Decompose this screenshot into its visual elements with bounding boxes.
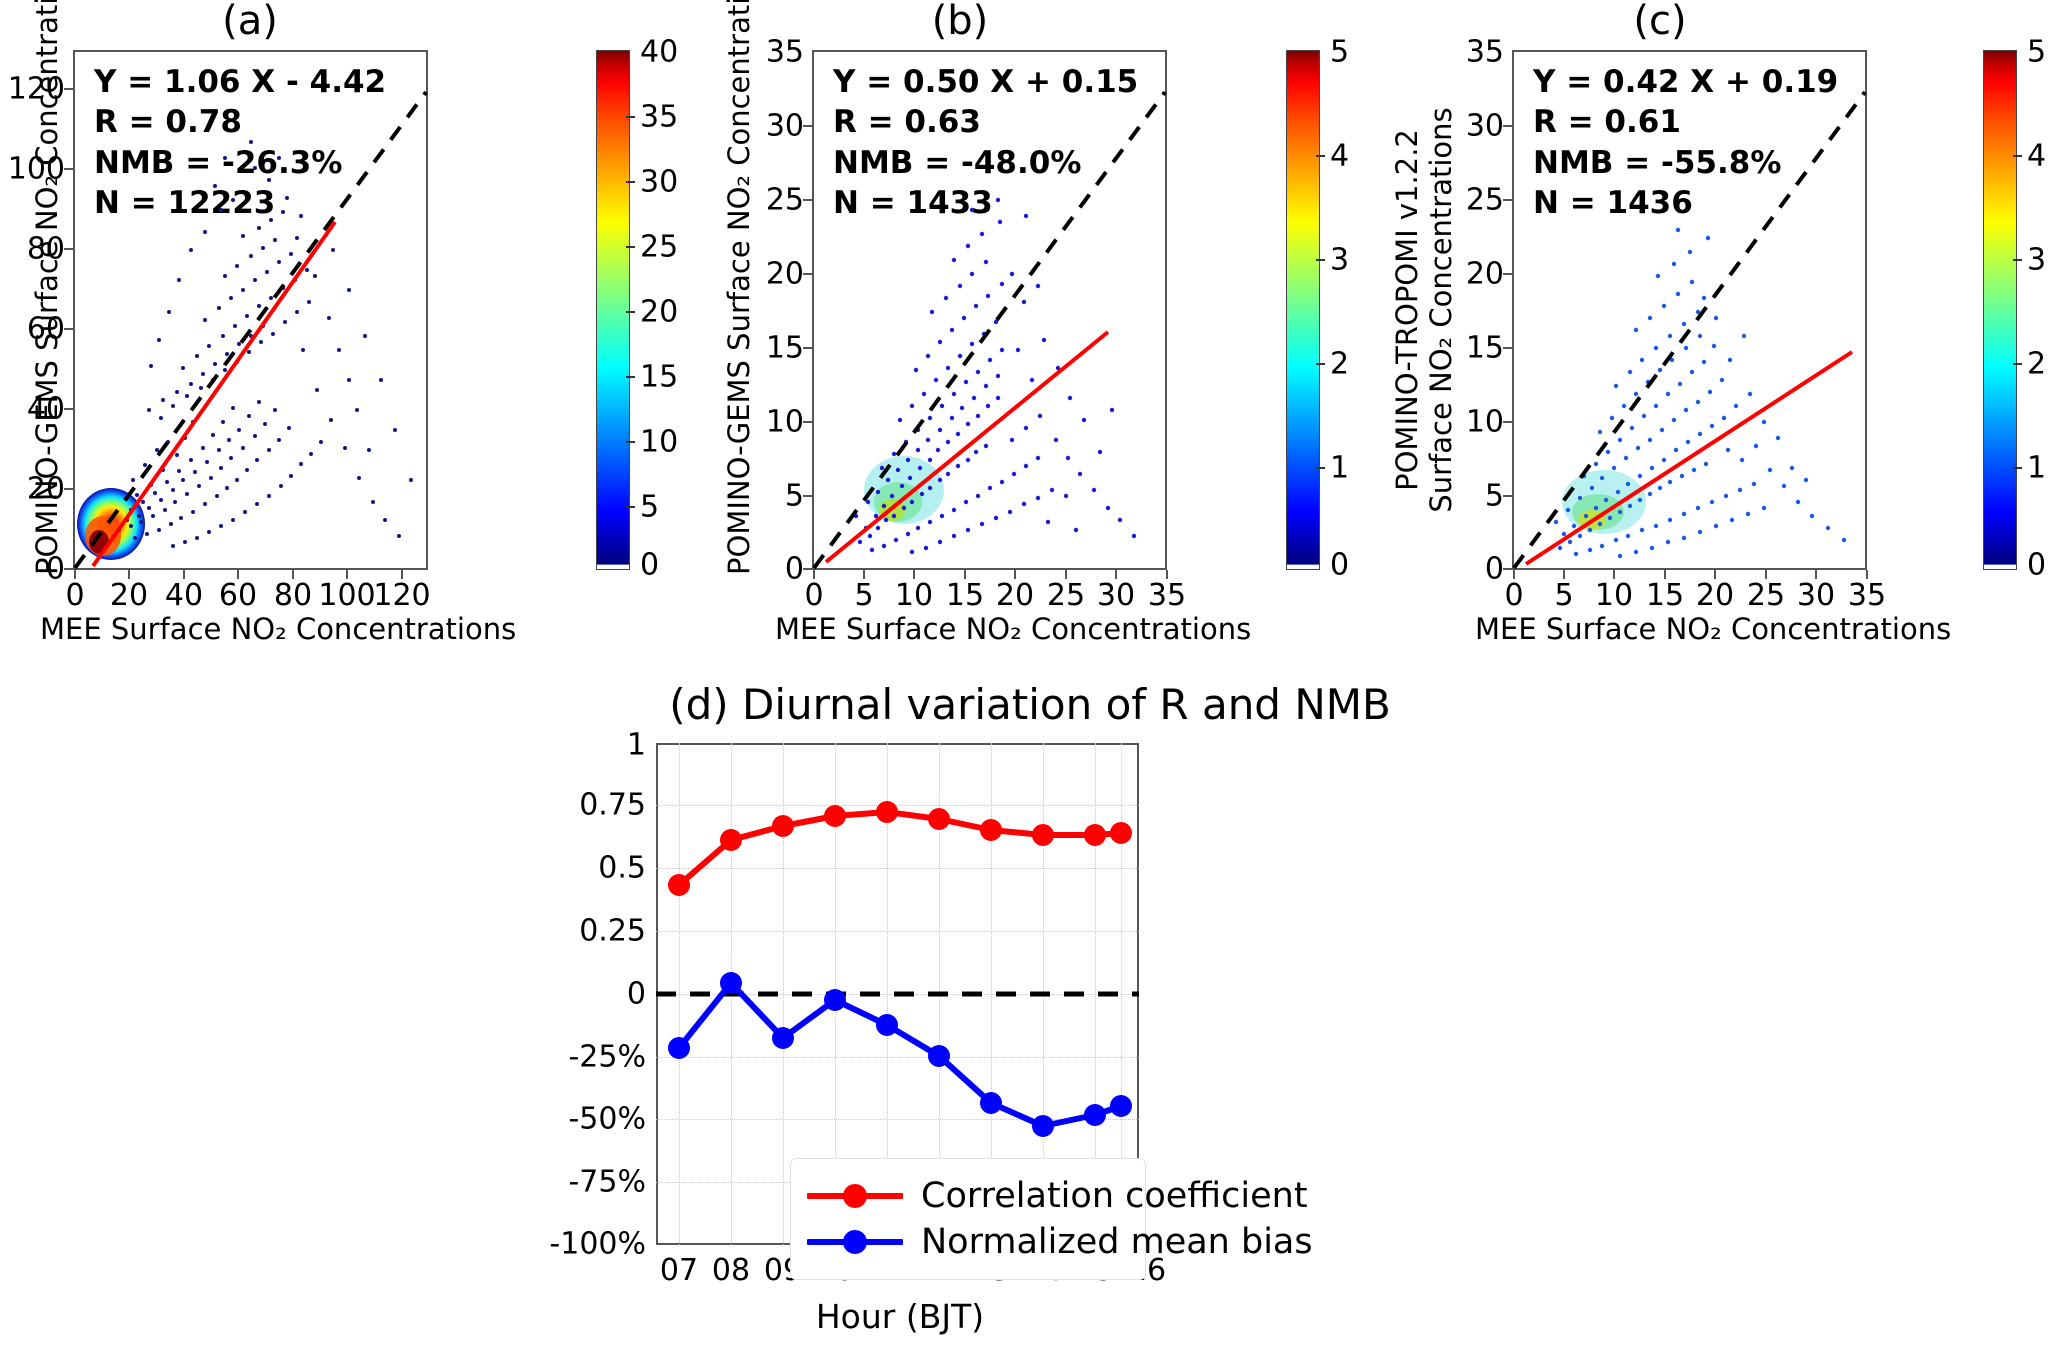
panel-a-ytick-80: 80 bbox=[0, 232, 65, 267]
panel-a-ytick-60: 60 bbox=[0, 312, 65, 347]
panel-a-cbar-tick-15: 15 bbox=[640, 360, 678, 395]
panel-a-cbar-tick-40: 40 bbox=[640, 35, 678, 70]
legend-item-correlation-coefficient[interactable]: Correlation coefficient bbox=[807, 1173, 1125, 1219]
panel-c-colorbar bbox=[1983, 50, 2017, 570]
panel-b-ytick-35: 35 bbox=[734, 35, 804, 70]
panel-b-plot-content bbox=[812, 50, 1167, 570]
panel-c-xtick-35: 35 bbox=[1832, 578, 1902, 613]
panel-b-ytick-10: 10 bbox=[734, 405, 804, 440]
panel-a-cbar-tick-10: 10 bbox=[640, 425, 678, 460]
panel-c-cbar-tick-0: 0 bbox=[2027, 548, 2046, 583]
data-point-correlation-07 bbox=[668, 874, 690, 896]
panel-a-xtick-120: 120 bbox=[367, 578, 437, 613]
panel-c-cbar-tick-4: 4 bbox=[2027, 139, 2046, 174]
panel-a-cbar-tick-35: 35 bbox=[640, 100, 678, 135]
legend-item-normalized-mean-bias[interactable]: Normalized mean bias bbox=[807, 1219, 1125, 1265]
data-point-nmb-13 bbox=[980, 1092, 1002, 1114]
panel-a-plot-content bbox=[73, 50, 428, 570]
panel-a-ytick-20: 20 bbox=[0, 472, 65, 507]
panel-b-xtick-35: 35 bbox=[1132, 578, 1202, 613]
panel-c-ytick-20: 20 bbox=[1434, 257, 1504, 292]
panel-c-cbar-tick-1: 1 bbox=[2027, 451, 2046, 486]
panel-c: (c) POMINO-TROPOMI v1.2.2 Surface NO₂ Co… bbox=[1380, 0, 2067, 640]
panel-a-x-axis-label: MEE Surface NO₂ Concentrations bbox=[40, 612, 470, 646]
panel-c-ytick-10: 10 bbox=[1434, 405, 1504, 440]
panel-d-x-axis-label: Hour (BJT) bbox=[700, 1297, 1100, 1336]
panel-b-x-axis-label: MEE Surface NO₂ Concentrations bbox=[775, 612, 1205, 646]
panel-d-legend: Correlation coefficient Normalized mean … bbox=[790, 1158, 1146, 1280]
panel-d-title: (d) Diurnal variation of R and NMB bbox=[520, 680, 1540, 729]
panel-b-ytick-5: 5 bbox=[734, 479, 804, 514]
data-point-correlation-15 bbox=[1084, 824, 1106, 846]
panel-d-ytick-50pct: -50% bbox=[476, 1102, 646, 1137]
data-point-correlation-10 bbox=[824, 805, 846, 827]
legend-label-normalized-mean-bias: Normalized mean bias bbox=[921, 1222, 1313, 1262]
series-normalized-mean-bias bbox=[679, 983, 1121, 1126]
panel-a-cbar-tick-30: 30 bbox=[640, 165, 678, 200]
panel-a-colorbar bbox=[596, 50, 630, 570]
panel-b-ytick-15: 15 bbox=[734, 331, 804, 366]
panel-d-ytick-075: 0.75 bbox=[476, 788, 646, 823]
panel-c-ytick-25: 25 bbox=[1434, 183, 1504, 218]
legend-marker-red-line-icon bbox=[807, 1193, 903, 1199]
panel-d-ytick-75pct: -75% bbox=[476, 1165, 646, 1200]
panel-d-ytick-100pct: -100% bbox=[460, 1227, 646, 1262]
panel-c-x-axis-label: MEE Surface NO₂ Concentrations bbox=[1475, 612, 1905, 646]
panel-c-ytick-5: 5 bbox=[1434, 479, 1504, 514]
panel-d-ytick-1: 1 bbox=[476, 728, 646, 763]
panel-c-cbar-tick-3: 3 bbox=[2027, 243, 2046, 278]
panel-a-cbar-tick-20: 20 bbox=[640, 295, 678, 330]
data-point-correlation-09 bbox=[772, 815, 794, 837]
panel-b-ytick-25: 25 bbox=[734, 183, 804, 218]
panel-b-cbar-tick-3: 3 bbox=[1330, 243, 1349, 278]
panel-d-ytick-25pct: -25% bbox=[476, 1040, 646, 1075]
panel-d-ytick-05: 0.5 bbox=[476, 851, 646, 886]
panel-a-ytick-120: 120 bbox=[0, 72, 65, 107]
panel-a-title: (a) bbox=[0, 0, 500, 44]
panel-a-cbar-tick-5: 5 bbox=[640, 490, 659, 525]
panel-c-ytick-30: 30 bbox=[1434, 109, 1504, 144]
panel-d-ytick-0: 0 bbox=[476, 977, 646, 1012]
data-point-nmb-16 bbox=[1110, 1095, 1132, 1117]
data-point-nmb-10 bbox=[824, 989, 846, 1011]
panel-a-ytick-40: 40 bbox=[0, 392, 65, 427]
data-point-correlation-11 bbox=[876, 801, 898, 823]
panel-c-cbar-tick-2: 2 bbox=[2027, 347, 2046, 382]
data-point-correlation-13 bbox=[980, 819, 1002, 841]
panel-b-cbar-tick-2: 2 bbox=[1330, 347, 1349, 382]
panel-a-ytick-100: 100 bbox=[0, 152, 65, 187]
panel-a-cbar-tick-25: 25 bbox=[640, 230, 678, 265]
panel-b-colorbar bbox=[1286, 50, 1320, 570]
panel-d-ytick-025: 0.25 bbox=[476, 914, 646, 949]
panel-b-cbar-tick-4: 4 bbox=[1330, 139, 1349, 174]
data-point-nmb-08 bbox=[720, 972, 742, 994]
legend-marker-blue-line-icon bbox=[807, 1239, 903, 1245]
data-point-nmb-12 bbox=[928, 1045, 950, 1067]
data-point-correlation-16 bbox=[1110, 822, 1132, 844]
panel-b: (b) POMINO-GEMS Surface NO₂ Concentratio… bbox=[690, 0, 1350, 640]
panel-c-y-axis-label-line1: POMINO-TROPOMI v1.2.2 bbox=[1390, 45, 1424, 575]
figure-root: (a) POMINO-GEMS Surface NO₂ Concentratio… bbox=[0, 0, 2067, 1353]
data-point-correlation-12 bbox=[928, 808, 950, 830]
panel-b-ytick-20: 20 bbox=[734, 257, 804, 292]
series-correlation-coefficient bbox=[679, 812, 1121, 885]
data-point-nmb-09 bbox=[772, 1027, 794, 1049]
panel-b-cbar-tick-0: 0 bbox=[1330, 548, 1349, 583]
panel-b-cbar-tick-5: 5 bbox=[1330, 35, 1349, 70]
panel-c-ytick-35: 35 bbox=[1434, 35, 1504, 70]
data-point-correlation-08 bbox=[720, 829, 742, 851]
panel-a: (a) POMINO-GEMS Surface NO₂ Concentratio… bbox=[0, 0, 660, 640]
panel-a-cbar-tick-0: 0 bbox=[640, 548, 659, 583]
panel-b-ytick-30: 30 bbox=[734, 109, 804, 144]
data-point-nmb-11 bbox=[876, 1014, 898, 1036]
panel-c-ytick-15: 15 bbox=[1434, 331, 1504, 366]
data-point-nmb-15 bbox=[1084, 1104, 1106, 1126]
data-point-nmb-14 bbox=[1032, 1115, 1054, 1137]
data-point-correlation-14 bbox=[1032, 824, 1054, 846]
panel-b-cbar-tick-1: 1 bbox=[1330, 451, 1349, 486]
legend-label-correlation-coefficient: Correlation coefficient bbox=[921, 1176, 1308, 1216]
panel-d: (d) Diurnal variation of R and NMB 1 0.7… bbox=[0, 655, 2067, 1353]
panel-c-cbar-tick-5: 5 bbox=[2027, 35, 2046, 70]
data-point-nmb-07 bbox=[668, 1037, 690, 1059]
panel-c-plot-content bbox=[1512, 50, 1867, 570]
